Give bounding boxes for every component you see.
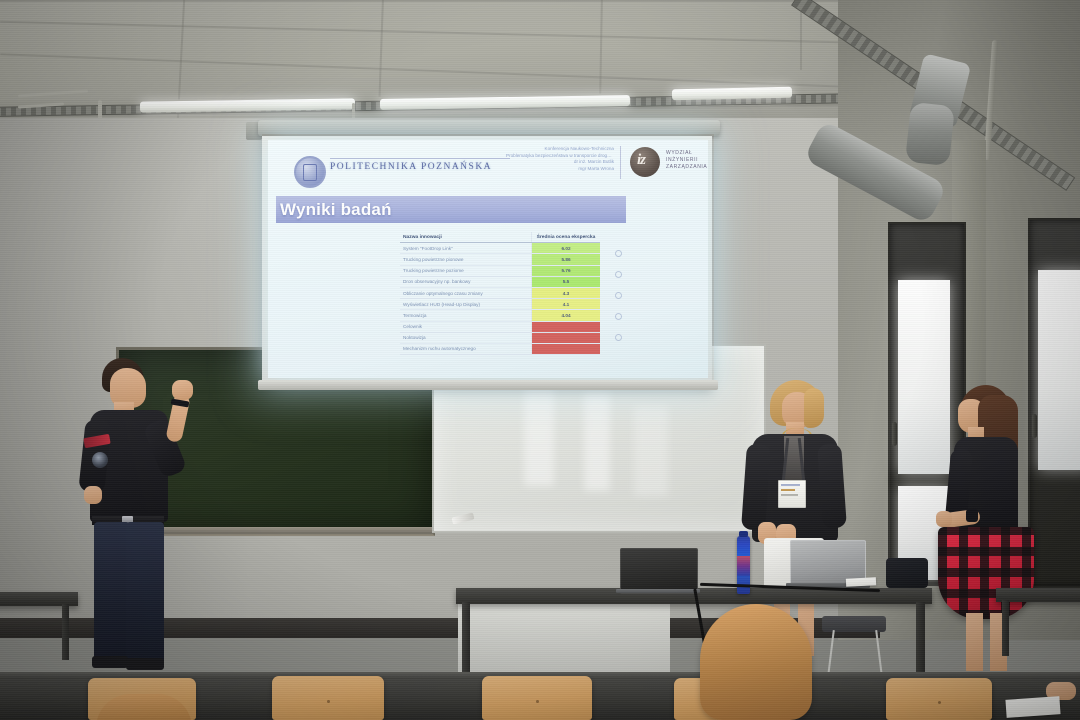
- row-score: 4.3: [532, 287, 601, 298]
- row-score: 4.04: [532, 310, 601, 321]
- slide-title: Wyniki badań: [280, 198, 392, 222]
- presenter-man: [78, 358, 208, 678]
- plaid-woman-skirt: [938, 527, 1034, 619]
- screen-case: [258, 120, 720, 136]
- projected-slide: POLITECHNIKA POZNAŃSKA Konferencja Nauko…: [268, 140, 708, 378]
- row-name: Wyświetlacz HUD (Head-Up Display): [400, 299, 532, 310]
- table-row: Mechanizm ruchu automatycznego: [400, 343, 600, 354]
- badge-line-2: [781, 489, 795, 491]
- table-row: System "FootDrop Link" 6.02: [400, 243, 600, 254]
- audience-member-blonde: [700, 604, 812, 720]
- row-name: Celownik: [400, 321, 532, 332]
- presenter-hand-lowered: [84, 486, 102, 504]
- presenter-hand-raised: [172, 380, 193, 400]
- row-name: System "FootDrop Link": [400, 243, 532, 254]
- woman-in-plaid-skirt: [936, 385, 1044, 675]
- faculty-line-3: ZARZĄDZANIA: [666, 164, 707, 171]
- blazer-woman-hair-side: [804, 388, 824, 428]
- table-row: Termowizja 4.04: [400, 310, 600, 321]
- presenter-table-leg-right: [916, 602, 925, 672]
- faculty-logo-icon: iz: [630, 147, 660, 177]
- screen-bottom-bar: [258, 380, 718, 390]
- table-row: Trucking powietrzne pionowe 5.86: [400, 254, 600, 265]
- presenter-badge-icon: [92, 452, 108, 468]
- table-row: Obliczanie optymalnego czasu zmiany 4.3: [400, 287, 600, 298]
- presentation-photo-scene: POLITECHNIKA POZNAŃSKA Konferencja Nauko…: [0, 0, 1080, 720]
- water-bottle-label: [737, 556, 750, 576]
- table-row: Celownik: [400, 321, 600, 332]
- row-name: Mechanizm ruchu automatycznego: [400, 343, 532, 354]
- table-row: Dron obserwacyjny np. bankowy 5.5: [400, 276, 600, 287]
- row-score: 5.86: [532, 254, 601, 265]
- foreground-chair-3[interactable]: [482, 676, 592, 720]
- row-score: 5.76: [532, 265, 601, 276]
- blazer-woman-arm-right: [817, 443, 847, 528]
- presenter-leg-left: [94, 522, 130, 662]
- university-name: POLITECHNIKA POZNAŃSKA: [330, 162, 492, 172]
- row-score: [532, 343, 601, 354]
- laptop-dark[interactable]: [620, 548, 698, 594]
- table-header-row: Nazwa innowacji Średnia ocena ekspercka: [400, 232, 600, 243]
- plaid-woman-hand: [936, 511, 952, 527]
- presenter-shoe-left: [92, 656, 128, 668]
- window-right-glass: [1038, 270, 1080, 470]
- col-header-score: Średnia ocena ekspercka: [532, 232, 601, 243]
- header-rule: [330, 158, 510, 159]
- laptop-dark-base: [616, 589, 700, 593]
- paper-on-table: [846, 577, 876, 587]
- water-bottle-cap: [739, 531, 748, 537]
- header-line-4: mgr Marta Wrona: [506, 166, 614, 173]
- row-name: Noktowizja: [400, 332, 532, 343]
- row-name: Dron obserwacyjny np. bankowy: [400, 276, 532, 287]
- faculty-name: WYDZIAŁ INŻYNIERII ZARZĄDZANIA: [666, 150, 707, 171]
- row-score: 5.5: [532, 276, 601, 287]
- badge-line: [781, 484, 800, 486]
- badge-line-3: [781, 494, 798, 496]
- side-desk-left-leg: [62, 604, 69, 660]
- table-front-panel: [458, 598, 670, 672]
- university-seal-icon: [294, 156, 326, 188]
- row-score: 4.1: [532, 299, 601, 310]
- row-name: Trucking powietrzne pionowe: [400, 254, 532, 265]
- slide-header-center-text: Konferencja Naukowo-Techniczna Problemat…: [506, 146, 614, 172]
- plaid-woman-wristband: [966, 509, 978, 522]
- header-divider: [620, 146, 621, 179]
- foreground-chair-2[interactable]: [272, 676, 384, 720]
- table-row: Trucking powietrzne poziome 5.76: [400, 265, 600, 276]
- foreground-chair-5[interactable]: [886, 678, 992, 720]
- faculty-line-1: WYDZIAŁ: [666, 150, 707, 157]
- row-name: Trucking powietrzne poziome: [400, 265, 532, 276]
- window-left-handle[interactable]: [892, 422, 897, 446]
- slide-bullet-markers: [612, 236, 624, 355]
- faculty-logo-text: iz: [637, 152, 645, 169]
- table-row: Noktowizja: [400, 332, 600, 343]
- equipment-bag[interactable]: [886, 558, 928, 588]
- row-score: [532, 332, 601, 343]
- results-table: Nazwa innowacji Średnia ocena ekspercka …: [400, 232, 600, 355]
- presenter-shoe-right: [126, 658, 164, 670]
- audience-paper: [1005, 696, 1060, 718]
- row-score: [532, 321, 601, 332]
- presenter-leg-right: [126, 522, 164, 666]
- row-score: 6.02: [532, 243, 601, 254]
- side-desk-right-leg: [1002, 600, 1009, 656]
- presenter-table-leg-left: [462, 602, 470, 672]
- col-header-name: Nazwa innowacji: [400, 232, 532, 243]
- row-name: Termowizja: [400, 310, 532, 321]
- row-name: Obliczanie optymalnego czasu zmiany: [400, 287, 532, 298]
- plaid-woman-leg-left: [966, 613, 983, 671]
- faculty-line-2: INŻYNIERII: [666, 157, 707, 164]
- table-row: Wyświetlacz HUD (Head-Up Display) 4.1: [400, 299, 600, 310]
- vent-duct-vertical: [905, 102, 955, 166]
